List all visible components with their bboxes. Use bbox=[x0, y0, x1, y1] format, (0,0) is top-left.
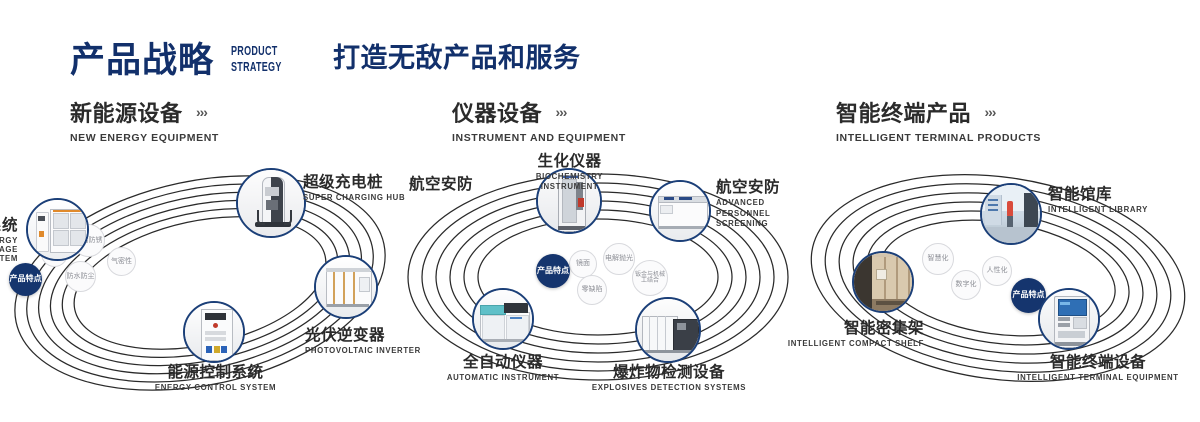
label-intelligent-compact-shelf: 智能密集架 INTELLIGENT COMPACT SHELF bbox=[764, 316, 924, 350]
node-label-cn: 航空安防 bbox=[409, 172, 473, 194]
section-title-cn: 智能终端产品 bbox=[836, 96, 971, 128]
core-bubble: 产品特点 bbox=[536, 254, 570, 288]
node-label-cn: 生化仪器 bbox=[522, 149, 617, 171]
node-intelligent-library[interactable] bbox=[980, 183, 1042, 245]
node-label-en: INTELLIGENT TERMINAL EQUIPMENT bbox=[1003, 373, 1193, 382]
node-label-en: INTELLIGENT LIBRARY bbox=[1048, 205, 1148, 214]
cluster-instrument: 镜面 电解抛光 零缺陷 钣金与机械工结合 产品特点 航空安防 生化仪器 BIOC… bbox=[400, 155, 800, 405]
chevron-right-icon: ››› bbox=[196, 104, 207, 120]
label-biochemistry-instrument: 生化仪器 BIOCHEMISTRY INSTRUMENT bbox=[522, 149, 617, 191]
feature-bubble: 智慧化 bbox=[922, 243, 954, 275]
node-label-cn: 爆炸物检测设备 bbox=[575, 360, 763, 382]
node-label-en: SUPER CHARGING HUB bbox=[303, 193, 405, 202]
node-label-en: BIOCHEMISTRY INSTRUMENT bbox=[522, 172, 617, 191]
page-header: 产品战略 PRODUCT STRATEGY bbox=[70, 28, 301, 80]
node-label-en: EXPLOSIVES DETECTION SYSTEMS bbox=[575, 383, 763, 392]
node-photovoltaic-inverter[interactable] bbox=[314, 255, 378, 319]
node-label-cn: 储能系统 bbox=[0, 213, 18, 235]
feature-bubble: 人性化 bbox=[982, 256, 1012, 286]
product-strategy-infographic: 产品战略 PRODUCT STRATEGY 打造无敌产品和服务 新能源设备 ››… bbox=[0, 0, 1200, 422]
chevron-right-icon: ››› bbox=[984, 104, 995, 120]
page-title-en-line1: PRODUCT bbox=[231, 45, 282, 58]
page-slogan: 打造无敌产品和服务 bbox=[333, 36, 581, 75]
node-intelligent-terminal-equipment[interactable] bbox=[1038, 288, 1100, 350]
label-super-charging-hub: 超级充电桩 SUPER CHARGING HUB bbox=[303, 170, 405, 202]
section-title-instrument: 仪器设备 ››› INSTRUMENT AND EQUIPMENT bbox=[452, 96, 626, 144]
page-title-cn: 产品战略 bbox=[70, 42, 214, 80]
node-super-charging-hub[interactable] bbox=[236, 168, 306, 238]
page-title-en-line2: STRATEGY bbox=[231, 61, 282, 74]
node-automatic-instrument[interactable] bbox=[472, 288, 534, 350]
page-title-en: PRODUCT STRATEGY bbox=[222, 45, 301, 76]
node-label-en: ENERGY STORAGE SYSTEM bbox=[0, 236, 18, 263]
section-title-cn: 仪器设备 bbox=[452, 96, 542, 128]
node-label-cn: 智能馆库 bbox=[1048, 182, 1148, 204]
feature-bubble: 镜面 bbox=[569, 250, 597, 278]
label-energy-storage-system: 储能系统 ENERGY STORAGE SYSTEM bbox=[0, 213, 18, 263]
node-label-cn: 全自动仪器 bbox=[419, 350, 587, 372]
node-label-en: AUTOMATIC INSTRUMENT bbox=[419, 373, 587, 382]
section-title-en: INTELLIGENT TERMINAL PRODUCTS bbox=[836, 132, 1041, 144]
node-label-cn: 智能密集架 bbox=[764, 316, 924, 338]
core-bubble: 产品特点 bbox=[9, 263, 42, 296]
label-energy-control-system: 能源控制系统 ENERGY CONTROL SYSTEM bbox=[83, 360, 348, 392]
node-label-en: INTELLIGENT COMPACT SHELF bbox=[764, 339, 924, 350]
cluster-new-energy: 户外 防腐防锈 防水防尘 气密性 产品特点 储能系统 ENERGY STORAG… bbox=[0, 155, 400, 405]
feature-bubble: 零缺陷 bbox=[577, 275, 607, 305]
feature-bubble: 气密性 bbox=[107, 247, 136, 276]
node-intelligent-compact-shelf[interactable] bbox=[852, 251, 914, 313]
node-label-cn: 能源控制系统 bbox=[83, 360, 348, 382]
label-aviation-security: 航空安防 bbox=[409, 172, 473, 194]
section-title-en: INSTRUMENT AND EQUIPMENT bbox=[452, 132, 626, 144]
node-explosives-detection-systems[interactable] bbox=[635, 297, 701, 363]
feature-bubble: 钣金与机械工结合 bbox=[632, 260, 668, 296]
node-energy-control-system[interactable] bbox=[183, 301, 245, 363]
label-automatic-instrument: 全自动仪器 AUTOMATIC INSTRUMENT bbox=[419, 350, 587, 382]
cluster-intelligent-terminal: 智慧化 数字化 人性化 产品特点 智能馆库 INTELLIGENT LIBRAR… bbox=[790, 158, 1200, 408]
feature-bubble: 防水防尘 bbox=[65, 261, 96, 292]
label-explosives-detection-systems: 爆炸物检测设备 EXPLOSIVES DETECTION SYSTEMS bbox=[575, 360, 763, 392]
node-label-cn: 超级充电桩 bbox=[303, 170, 405, 192]
node-energy-storage-system[interactable] bbox=[26, 198, 89, 261]
feature-bubble: 电解抛光 bbox=[603, 243, 635, 275]
node-label-en: ENERGY CONTROL SYSTEM bbox=[83, 383, 348, 392]
node-advanced-personnel-screening[interactable] bbox=[649, 180, 711, 242]
chevron-right-icon: ››› bbox=[555, 104, 566, 120]
label-intelligent-terminal-equipment: 智能终端设备 INTELLIGENT TERMINAL EQUIPMENT bbox=[1003, 350, 1193, 382]
label-intelligent-library: 智能馆库 INTELLIGENT LIBRARY bbox=[1048, 182, 1148, 214]
section-title-new-energy: 新能源设备 ››› NEW ENERGY EQUIPMENT bbox=[70, 96, 219, 144]
section-title-intelligent-terminal: 智能终端产品 ››› INTELLIGENT TERMINAL PRODUCTS bbox=[836, 96, 1041, 144]
node-label-cn: 智能终端设备 bbox=[1003, 350, 1193, 372]
feature-bubble: 数字化 bbox=[951, 270, 981, 300]
section-title-en: NEW ENERGY EQUIPMENT bbox=[70, 132, 219, 144]
section-title-cn: 新能源设备 bbox=[70, 96, 183, 128]
